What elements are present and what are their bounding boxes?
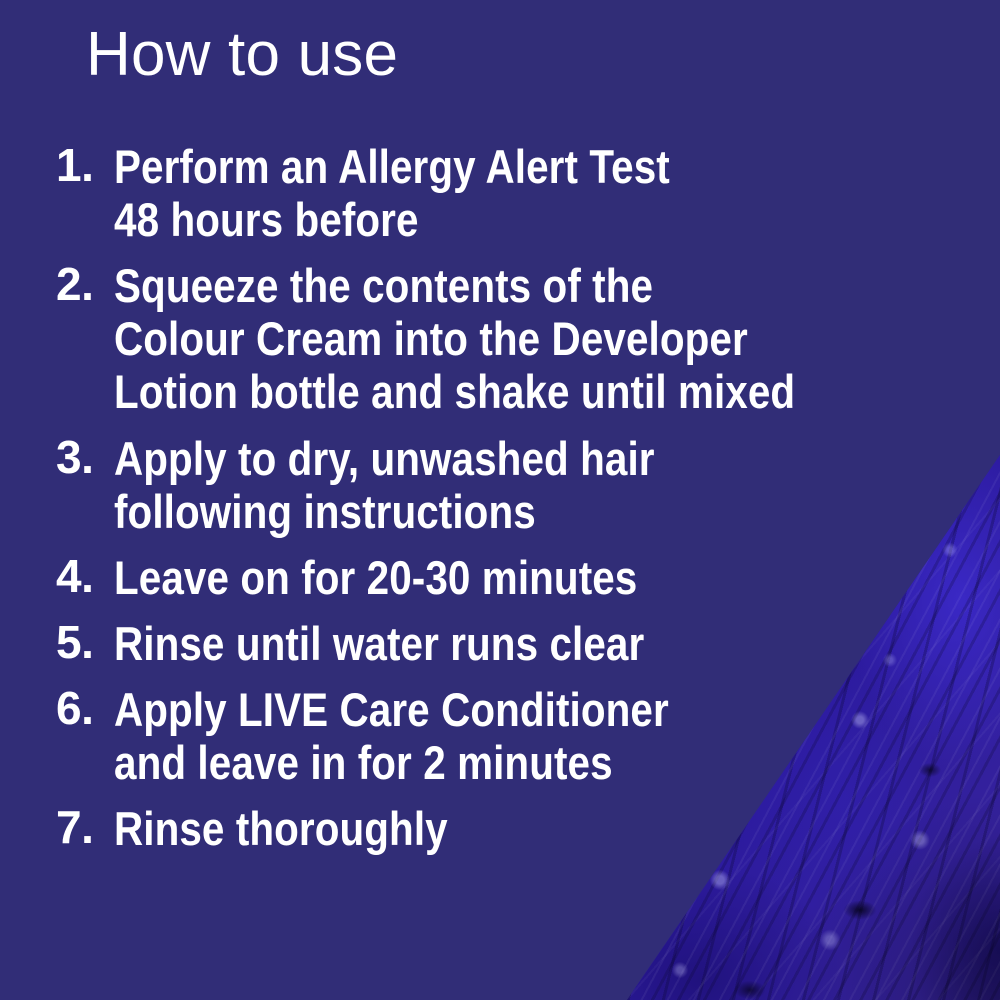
- step-number: 4.: [0, 551, 114, 603]
- instruction-steps-list: 1.Perform an Allergy Alert Test48 hours …: [0, 140, 960, 855]
- step-text-line: and leave in for 2 minutes: [114, 736, 842, 789]
- step-text-line: following instructions: [114, 485, 842, 538]
- instruction-step: 3.Apply to dry, unwashed hairfollowing i…: [0, 432, 960, 538]
- step-text-line: Perform an Allergy Alert Test: [114, 140, 842, 193]
- step-text-line: 48 hours before: [114, 193, 842, 246]
- step-number: 1.: [0, 140, 114, 192]
- step-text: Leave on for 20-30 minutes: [114, 551, 842, 604]
- step-number: 2.: [0, 259, 114, 311]
- step-text: Squeeze the contents of theColour Cream …: [114, 259, 842, 418]
- step-text-line: Apply to dry, unwashed hair: [114, 432, 842, 485]
- step-text-line: Leave on for 20-30 minutes: [114, 551, 842, 604]
- how-to-use-panel: How to use 1.Perform an Allergy Alert Te…: [0, 0, 1000, 1000]
- instruction-step: 6.Apply LIVE Care Conditionerand leave i…: [0, 683, 960, 789]
- step-text-line: Rinse until water runs clear: [114, 617, 842, 670]
- step-text: Rinse thoroughly: [114, 802, 842, 855]
- instruction-step: 2.Squeeze the contents of theColour Crea…: [0, 259, 960, 418]
- page-title: How to use: [86, 22, 398, 87]
- step-text: Perform an Allergy Alert Test48 hours be…: [114, 140, 842, 246]
- step-number: 6.: [0, 683, 114, 735]
- step-text-line: Squeeze the contents of the: [114, 259, 842, 312]
- step-text-line: Lotion bottle and shake until mixed: [114, 365, 842, 418]
- step-text: Rinse until water runs clear: [114, 617, 842, 670]
- instruction-step: 4.Leave on for 20-30 minutes: [0, 551, 960, 604]
- step-text: Apply LIVE Care Conditionerand leave in …: [114, 683, 842, 789]
- step-text-line: Colour Cream into the Developer: [114, 312, 842, 365]
- step-text: Apply to dry, unwashed hairfollowing ins…: [114, 432, 842, 538]
- step-number: 5.: [0, 617, 114, 669]
- step-text-line: Apply LIVE Care Conditioner: [114, 683, 842, 736]
- instruction-step: 5.Rinse until water runs clear: [0, 617, 960, 670]
- instruction-step: 1.Perform an Allergy Alert Test48 hours …: [0, 140, 960, 246]
- step-text-line: Rinse thoroughly: [114, 802, 842, 855]
- step-number: 3.: [0, 432, 114, 484]
- step-number: 7.: [0, 802, 114, 854]
- instruction-step: 7.Rinse thoroughly: [0, 802, 960, 855]
